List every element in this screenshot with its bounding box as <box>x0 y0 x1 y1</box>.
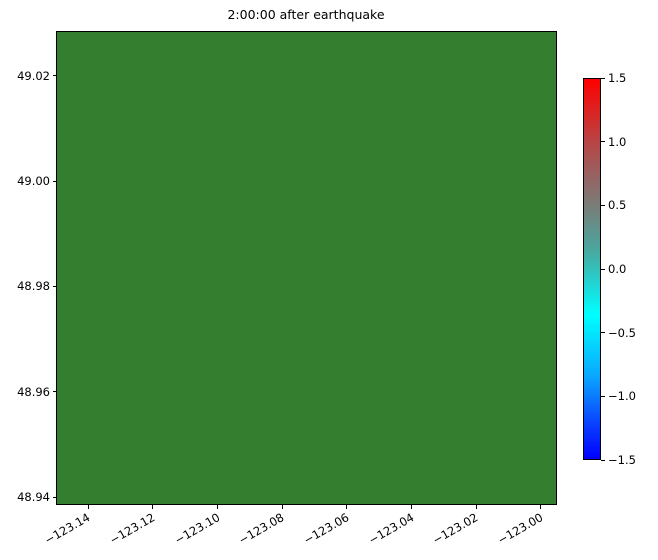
x-tick-label: −123.14 <box>43 511 93 547</box>
y-tick-label: 48.96 <box>17 385 50 399</box>
y-tick-mark <box>53 286 57 287</box>
x-tick-mark <box>282 505 283 509</box>
colorbar-tick-mark <box>601 396 605 397</box>
colorbar-tick-mark <box>601 269 605 270</box>
heatmap-axes <box>56 31 557 505</box>
heatmap-image <box>57 32 556 504</box>
colorbar-tick-mark <box>601 78 605 79</box>
x-tick-mark <box>152 505 153 509</box>
x-tick-mark <box>540 505 541 509</box>
x-tick-mark <box>88 505 89 509</box>
x-tick-label: −123.06 <box>302 511 352 547</box>
x-tick-mark <box>217 505 218 509</box>
x-axis: −123.14−123.12−123.10−123.08−123.06−123.… <box>0 505 658 560</box>
colorbar-tick-mark <box>601 460 605 461</box>
y-tick-mark <box>53 75 57 76</box>
y-tick-label: 49.00 <box>17 174 50 188</box>
y-tick-label: 49.02 <box>17 69 50 83</box>
colorbar-tick-label: −1.5 <box>608 453 636 467</box>
y-tick-label: 48.94 <box>17 490 50 504</box>
matplotlib-figure: 2:00:00 after earthquake 49.0249.0048.98… <box>0 0 658 560</box>
colorbar-tick-label: 1.0 <box>608 135 626 149</box>
colorbar-tick-label: 0.0 <box>608 262 626 276</box>
colorbar-tick-mark <box>601 205 605 206</box>
chart-title: 2:00:00 after earthquake <box>55 8 557 22</box>
x-tick-mark <box>411 505 412 509</box>
y-tick-mark <box>53 181 57 182</box>
colorbar-ticks: 1.51.00.50.0−0.5−1.0−1.5 <box>583 78 653 460</box>
colorbar-tick-label: −0.5 <box>608 326 636 340</box>
colorbar-tick-label: 1.5 <box>608 71 626 85</box>
y-tick-mark <box>53 391 57 392</box>
colorbar-tick-label: 0.5 <box>608 198 626 212</box>
y-tick-mark <box>53 497 57 498</box>
x-tick-mark <box>476 505 477 509</box>
y-tick-label: 48.98 <box>17 279 50 293</box>
colorbar-tick-label: −1.0 <box>608 389 636 403</box>
x-tick-mark <box>346 505 347 509</box>
colorbar-tick-mark <box>601 332 605 333</box>
x-tick-label: −123.10 <box>172 511 222 547</box>
x-tick-label: −123.00 <box>496 511 546 547</box>
x-tick-label: −123.02 <box>431 511 481 547</box>
colorbar-tick-mark <box>601 141 605 142</box>
x-tick-label: −123.04 <box>366 511 416 547</box>
x-tick-label: −123.12 <box>108 511 158 547</box>
y-axis: 49.0249.0048.9848.9648.94 <box>0 0 56 560</box>
x-tick-label: −123.08 <box>237 511 287 547</box>
